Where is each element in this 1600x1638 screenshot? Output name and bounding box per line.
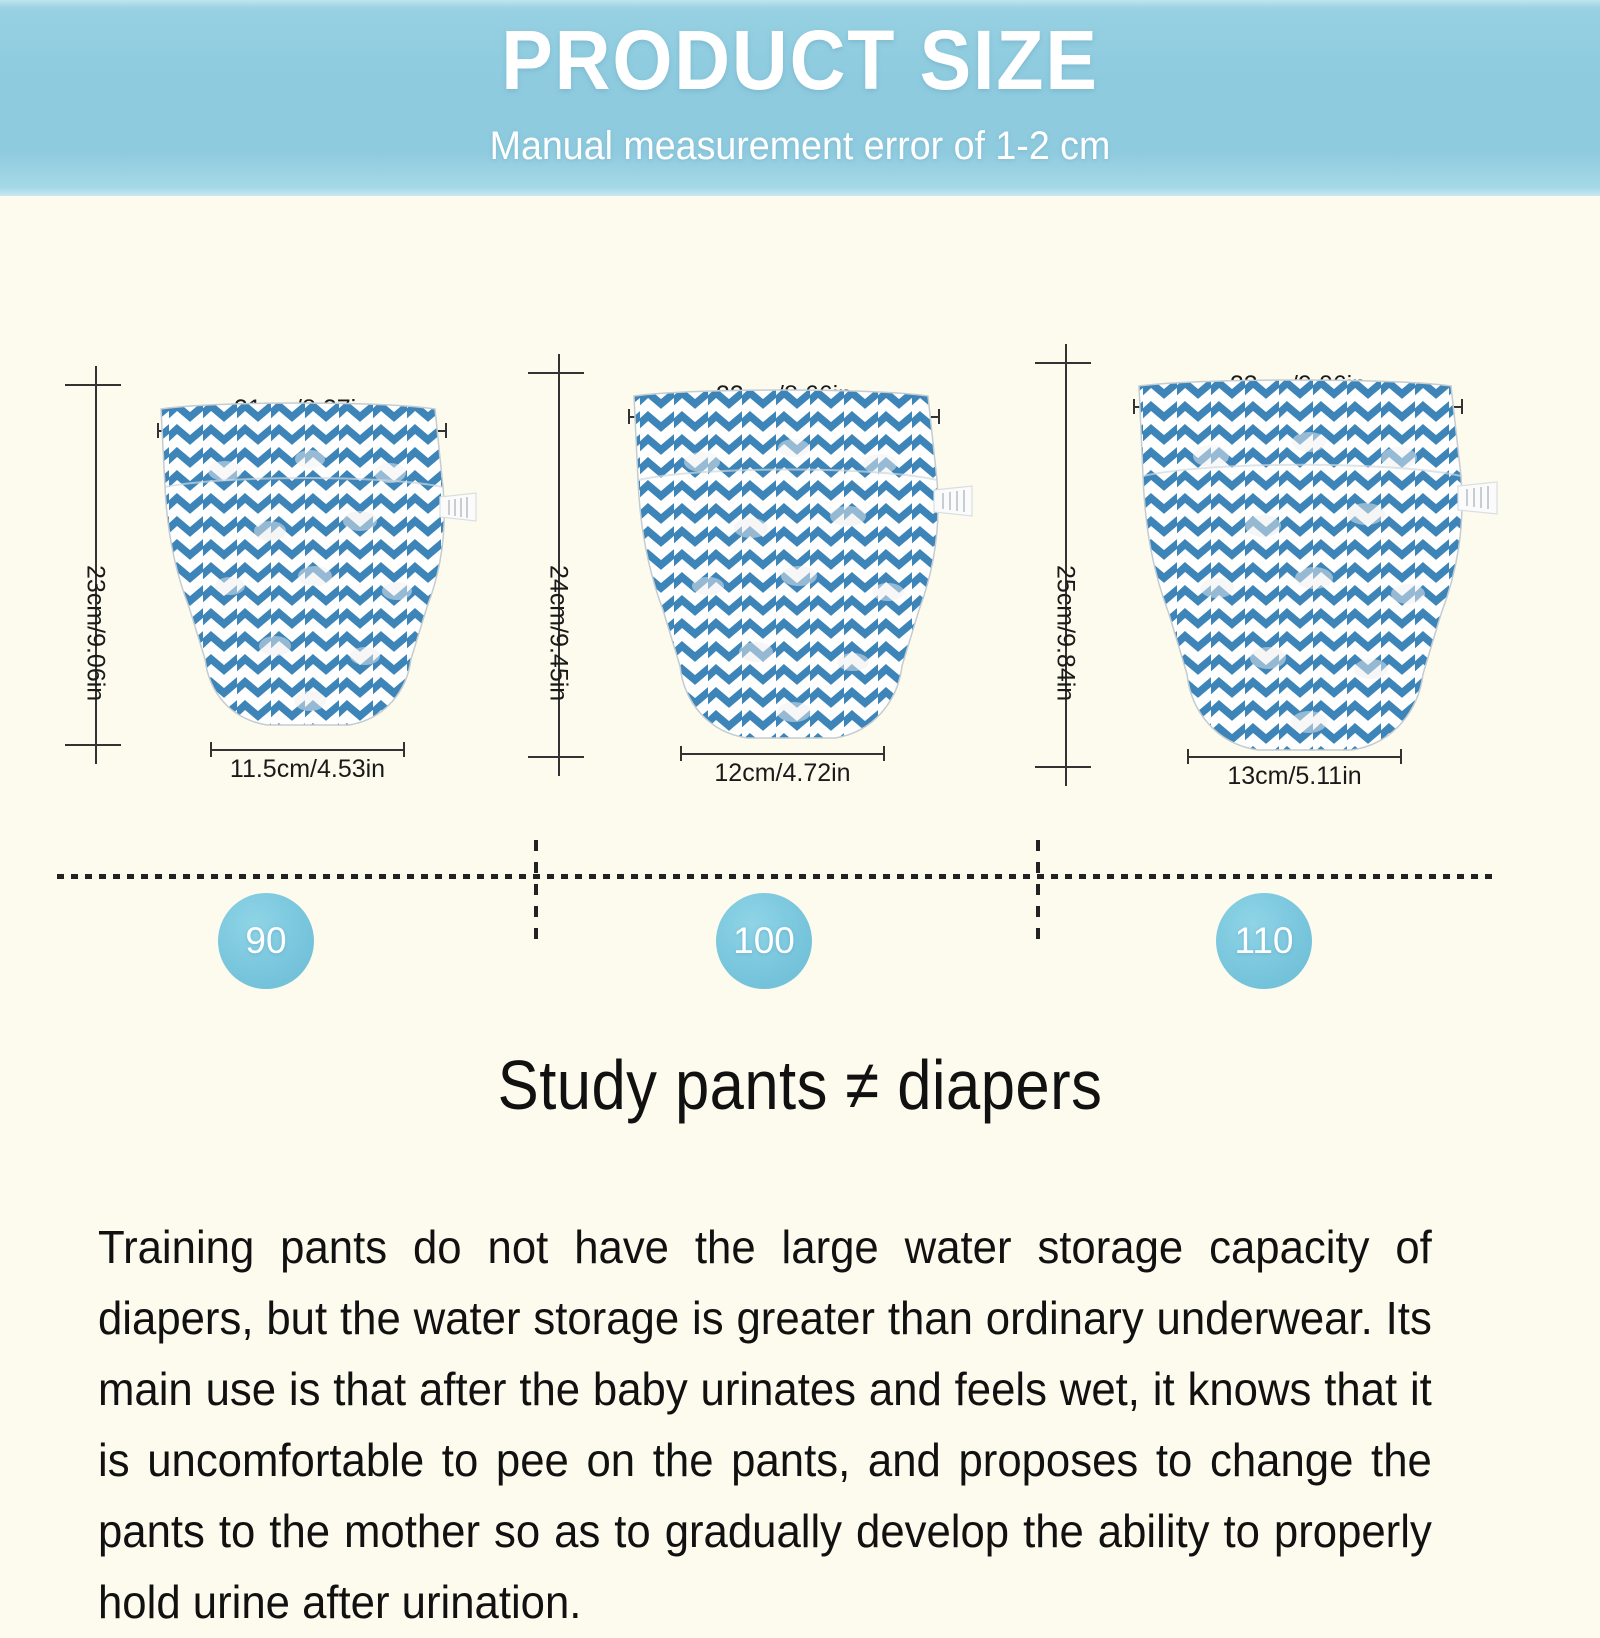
garment-svg-110 [1109, 378, 1501, 756]
height-dimension-100: 24cm/9.45in [528, 372, 588, 758]
height-label-90: 23cm/9.06in [81, 565, 110, 701]
page-title: PRODUCT SIZE [64, 12, 1536, 108]
garment-svg-100 [606, 388, 976, 744]
horizontal-dotted-divider [57, 874, 1495, 879]
bottom-width-dimension-100: 12cm/4.72in [680, 745, 885, 793]
vertical-dashed-separator-2 [1036, 840, 1040, 943]
section-headline: Study pants ≠ diapers [96, 1042, 1504, 1128]
dimension-cap-top [528, 372, 584, 374]
dimension-cap-top [65, 384, 121, 386]
height-label-110: 25cm/9.84in [1051, 565, 1080, 701]
training-pants-illustration-110 [1109, 378, 1501, 756]
dimension-cap-top [1035, 362, 1091, 364]
height-label-100: 24cm/9.45in [544, 565, 573, 701]
care-label-tag-110 [1458, 482, 1497, 514]
dimension-line-horizontal [680, 753, 885, 755]
height-dimension-110: 25cm/9.84in [1035, 362, 1095, 768]
size-column-110: 25cm/9.84in 23cm/9.06in [1035, 196, 1535, 816]
dimension-line-horizontal [1187, 756, 1402, 758]
size-column-100: 24cm/9.45in 22cm/8.66in [528, 196, 1028, 816]
bottom-width-label-90: 11.5cm/4.53in [170, 755, 445, 784]
description-paragraph: Training pants do not have the large wat… [98, 1212, 1432, 1638]
bottom-width-label-100: 12cm/4.72in [640, 759, 925, 788]
height-dimension-90: 23cm/9.06in [65, 384, 125, 746]
size-badge-100: 100 [716, 893, 812, 989]
training-pants-illustration-90 [135, 401, 480, 731]
dimension-cap-bottom [1035, 766, 1091, 768]
garment-svg-90 [135, 401, 480, 731]
page-subtitle: Manual measurement error of 1-2 cm [48, 122, 1552, 170]
dimension-cap-bottom [65, 744, 121, 746]
size-badge-90: 90 [218, 893, 314, 989]
vertical-dashed-separator-1 [534, 840, 538, 943]
bottom-width-label-110: 13cm/5.11in [1147, 762, 1442, 791]
size-badge-110: 110 [1216, 893, 1312, 989]
bottom-width-dimension-110: 13cm/5.11in [1187, 748, 1402, 796]
dimension-cap-bottom [528, 756, 584, 758]
care-label-tag-90 [440, 493, 476, 521]
care-label-tag-100 [934, 486, 972, 516]
size-chart-panel: 23cm/9.06in 21cm/8.27in [0, 196, 1600, 1016]
size-column-90: 23cm/9.06in 21cm/8.27in [45, 196, 545, 816]
training-pants-illustration-100 [606, 388, 976, 744]
bottom-width-dimension-90: 11.5cm/4.53in [210, 741, 405, 789]
header-banner: PRODUCT SIZE Manual measurement error of… [0, 0, 1600, 196]
dimension-line-horizontal [210, 749, 405, 751]
